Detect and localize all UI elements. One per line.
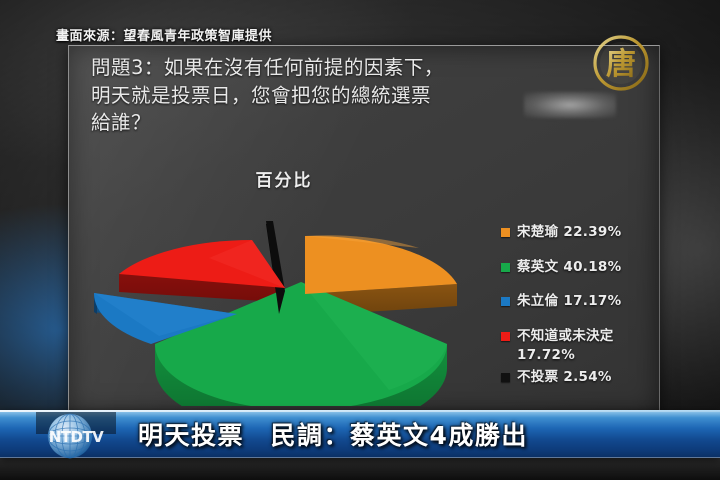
source-credit: 畫面來源：望春風青年政策智庫提供	[56, 25, 272, 44]
legend-item-tsai: 蔡英文 40.18%	[501, 259, 653, 277]
legend-item-chu: 朱立倫 17.17%	[501, 293, 653, 311]
broadcast-screen: 畫面來源：望春風青年政策智庫提供 問題3：如果在沒有任何前提的因素下， 明天就是…	[0, 0, 720, 480]
question-line-2: 明天就是投票日，您會把您的總統選票	[91, 82, 647, 110]
legend-swatch-green	[501, 263, 510, 272]
legend-label-chu: 朱立倫 17.17%	[517, 293, 621, 311]
pie-chart	[89, 196, 489, 406]
legend-label-tsai: 蔡英文 40.18%	[517, 259, 621, 277]
legend-label-undecided: 不知道或未決定	[517, 328, 614, 346]
poll-question: 問題3：如果在沒有任何前提的因素下， 明天就是投票日，您會把您的總統選票 給誰？	[91, 54, 647, 137]
legend-swatch-red	[501, 332, 510, 341]
question-line-1: 問題3：如果在沒有任何前提的因素下，	[91, 54, 647, 82]
ntdtv-logo-icon: 唐	[588, 30, 654, 96]
legend-item-novote: 不投票 2.54%	[501, 369, 653, 387]
legend-item-song: 宋楚瑜 22.39%	[501, 224, 653, 242]
headline-text: 明天投票 民調：蔡英文4成勝出	[138, 416, 528, 452]
chart-title-text: 百分比	[256, 171, 313, 191]
legend-value-undecided: 17.72%	[517, 347, 653, 363]
station-logo: NTDTV	[36, 406, 116, 468]
chart-legend: 宋楚瑜 22.39% 蔡英文 40.18% 朱立倫 17.17% 不知道或未決定…	[501, 224, 653, 389]
legend-swatch-black	[501, 373, 510, 382]
legend-swatch-blue	[501, 297, 510, 306]
legend-item-undecided: 不知道或未決定	[501, 328, 653, 346]
presentation-slide: 問題3：如果在沒有任何前提的因素下， 明天就是投票日，您會把您的總統選票 給誰？…	[68, 45, 660, 415]
legend-label-song: 宋楚瑜 22.39%	[517, 224, 621, 242]
legend-swatch-orange	[501, 228, 510, 237]
question-line-3: 給誰？	[91, 109, 647, 137]
chart-title: 百分比	[69, 166, 659, 191]
pie-chart-svg	[89, 196, 489, 406]
legend-label-novote: 不投票 2.54%	[517, 369, 612, 387]
watermark-glyph: 唐	[606, 47, 636, 82]
station-logo-text: NTDTV	[49, 428, 104, 446]
